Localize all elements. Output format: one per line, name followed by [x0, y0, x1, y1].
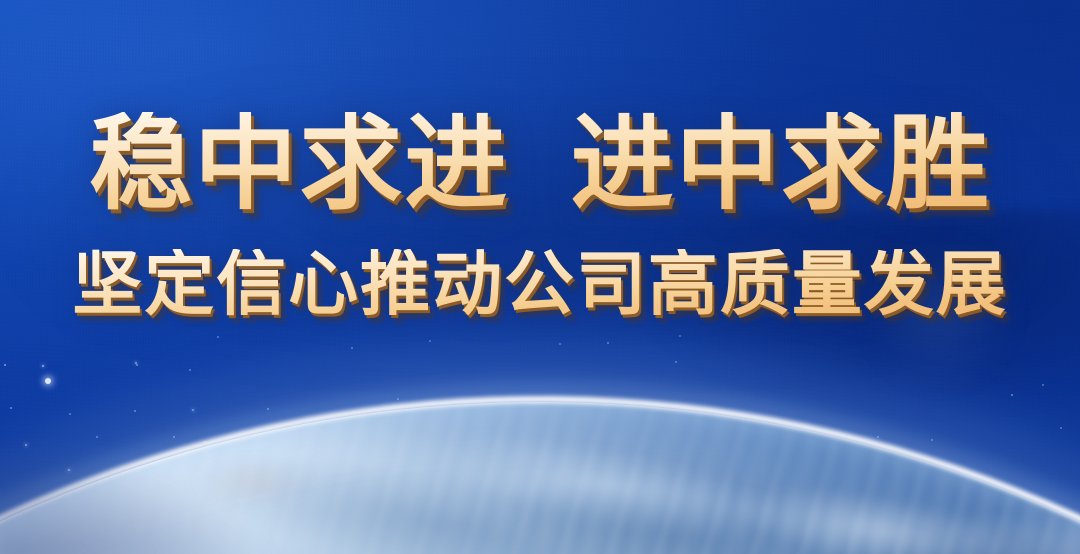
promotional-banner: 稳中求进 进中求胜 坚定信心推动公司高质量发展	[0, 0, 1080, 554]
banner-text-block: 稳中求进 进中求胜 坚定信心推动公司高质量发展	[0, 112, 1080, 319]
earth-left-shadow	[0, 355, 410, 554]
lens-flare-warm	[194, 460, 314, 504]
banner-subheadline: 坚定信心推动公司高质量发展	[0, 249, 1080, 319]
banner-headline: 稳中求进 进中求胜	[0, 112, 1080, 215]
